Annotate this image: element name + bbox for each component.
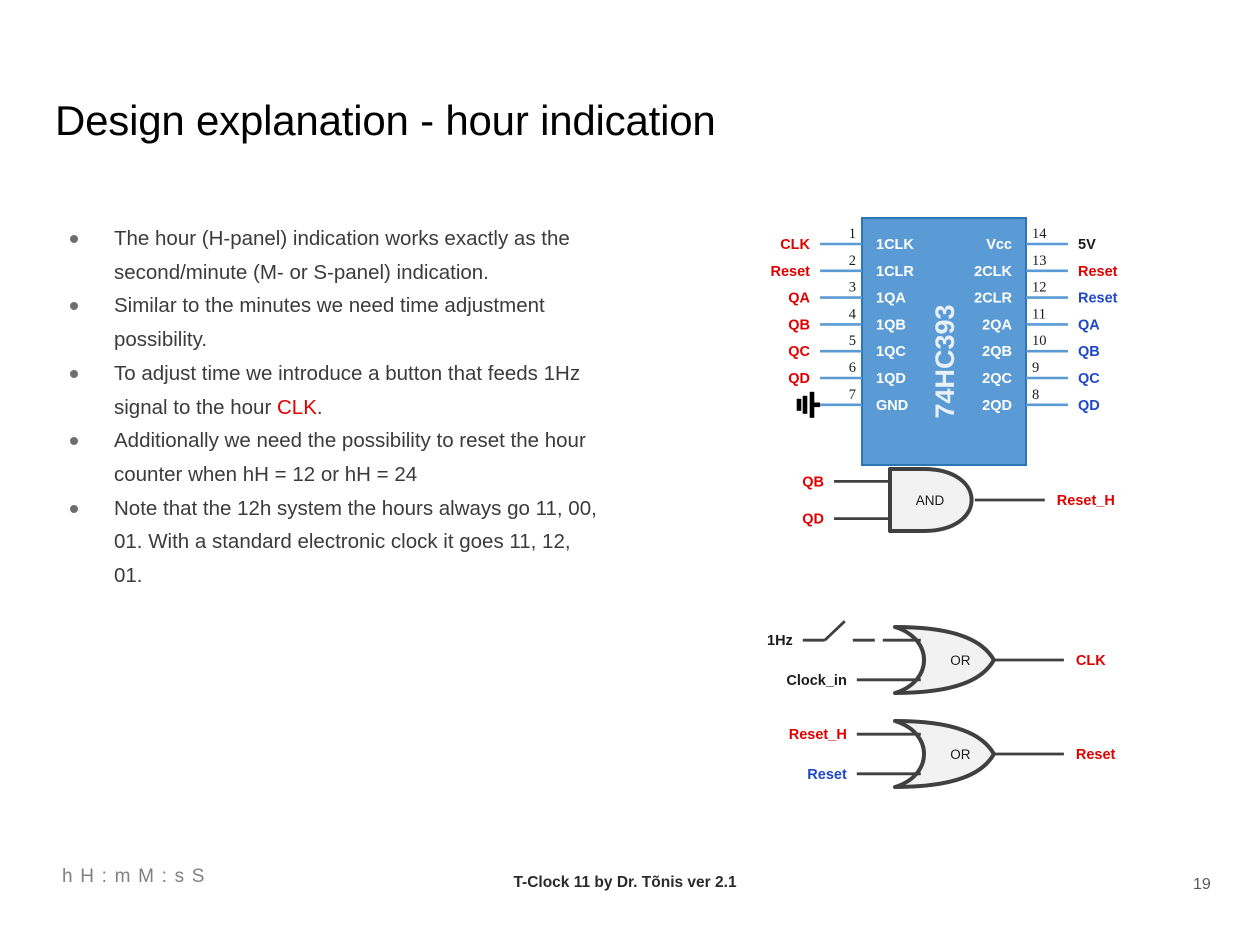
chip-name-label: 74HC393	[930, 304, 960, 418]
signal-label-right-14: 5V	[1078, 237, 1096, 253]
signal-label-left-4: QB	[788, 317, 810, 333]
gate-input-label-qb: QB	[802, 474, 824, 490]
pin-number-2: 2	[849, 253, 856, 269]
bullet-list: The hour (H-panel) indication works exac…	[62, 222, 602, 593]
push-button-switch-icon[interactable]	[825, 621, 845, 640]
pin-number-5: 5	[849, 333, 856, 349]
bullet-dot-icon	[70, 505, 78, 513]
chip-pin-label-left-1QC: 1QC	[876, 344, 906, 360]
list-item: Similar to the minutes we need time adju…	[62, 289, 602, 356]
gate-input-label-1hz: 1Hz	[767, 633, 793, 649]
chip-pin-label-right-2CLK: 2CLK	[974, 264, 1012, 280]
list-item: The hour (H-panel) indication works exac…	[62, 222, 602, 289]
bullet-text-1: Similar to the minutes we need time adju…	[114, 294, 545, 351]
pin-number-4: 4	[849, 306, 857, 322]
text-run: Note that the 12h system the hours alway…	[114, 497, 597, 587]
pin-number-12: 12	[1032, 280, 1047, 296]
signal-label-right-8: QD	[1078, 398, 1100, 414]
chip-pin-label-left-1QB: 1QB	[876, 317, 906, 333]
text-run: Additionally we need the possibility to …	[114, 429, 586, 486]
chip-pin-label-left-GND: GND	[876, 398, 908, 414]
bullet-text-0: The hour (H-panel) indication works exac…	[114, 227, 570, 284]
slide-canvas: Design explanation - hour indication The…	[0, 0, 1250, 938]
signal-label-right-13: Reset	[1078, 264, 1118, 280]
signal-label-left-2: Reset	[771, 264, 811, 280]
chip-pin-label-left-1CLK: 1CLK	[876, 237, 914, 253]
list-item: To adjust time we introduce a button tha…	[62, 357, 602, 424]
page-number: 19	[1193, 876, 1211, 894]
ic-74hc393-symbol: 74HC3931CLK1CLK1CLR2Reset1QA3QA1QB4QB1QC…	[771, 218, 1118, 465]
text-run: .	[317, 396, 323, 419]
bullet-dot-icon	[70, 302, 78, 310]
text-run: The hour (H-panel) indication works exac…	[114, 227, 570, 284]
text-run: Similar to the minutes we need time adju…	[114, 294, 545, 351]
pin-number-6: 6	[849, 360, 856, 376]
pin-number-7: 7	[849, 387, 856, 403]
gate-input-label-reset_h: Reset_H	[789, 727, 847, 743]
chip-pin-label-left-1CLR: 1CLR	[876, 264, 914, 280]
chip-pin-label-right-2QD: 2QD	[982, 398, 1012, 414]
signal-label-left-3: QA	[788, 291, 810, 307]
footer-title: T-Clock 11 by Dr. Tõnis ver 2.1	[0, 874, 1250, 892]
gate-label-or: OR	[950, 653, 971, 668]
chip-pin-label-left-1QD: 1QD	[876, 371, 906, 387]
pin-number-11: 11	[1032, 306, 1046, 322]
signal-label-left-5: QC	[788, 344, 810, 360]
signal-label-right-10: QB	[1078, 344, 1100, 360]
signal-label-right-9: QC	[1078, 371, 1100, 387]
gate-output-label-reset_h: Reset_H	[1057, 493, 1115, 509]
text-run: To adjust time we introduce a button tha…	[114, 362, 580, 419]
signal-label-right-12: Reset	[1078, 291, 1118, 307]
pin-number-1: 1	[849, 226, 856, 242]
signal-name-clk: CLK	[277, 396, 317, 419]
gate-label-or: OR	[950, 747, 971, 762]
chip-pin-label-right-2CLR: 2CLR	[974, 291, 1012, 307]
bullet-dot-icon	[70, 235, 78, 243]
signal-label-right-11: QA	[1078, 317, 1100, 333]
list-item: Additionally we need the possibility to …	[62, 424, 602, 491]
ground-icon	[799, 392, 820, 418]
signal-label-left-6: QD	[788, 371, 810, 387]
chip-pin-label-right-2QA: 2QA	[982, 317, 1012, 333]
gate-output-label-clk: CLK	[1076, 653, 1106, 669]
bullet-text-4: Note that the 12h system the hours alway…	[114, 497, 597, 587]
circuit-schematic: 74HC3931CLK1CLK1CLR2Reset1QA3QA1QB4QB1QC…	[710, 200, 1240, 820]
chip-pin-label-right-2QB: 2QB	[982, 344, 1012, 360]
gate-input-label-reset: Reset	[807, 767, 847, 783]
chip-pin-label-left-1QA: 1QA	[876, 291, 906, 307]
gate-and-0: ANDQBQDReset_H	[802, 469, 1115, 531]
pin-number-3: 3	[849, 280, 856, 296]
pin-number-8: 8	[1032, 387, 1039, 403]
chip-pin-label-right-Vcc: Vcc	[986, 237, 1012, 253]
pin-number-14: 14	[1032, 226, 1047, 242]
page-title: Design explanation - hour indication	[55, 98, 716, 144]
gate-body-or	[895, 721, 994, 787]
bullet-dot-icon	[70, 437, 78, 445]
signal-label-left-1: CLK	[780, 237, 810, 253]
pin-number-10: 10	[1032, 333, 1047, 349]
gate-input-label-qd: QD	[802, 512, 824, 528]
pin-number-13: 13	[1032, 253, 1047, 269]
logic-gates-group: ANDQBQDReset_HOR1HzClock_inCLKORReset_HR…	[767, 469, 1116, 787]
gate-or-1: OR1HzClock_inCLK	[767, 621, 1106, 693]
chip-pin-label-right-2QC: 2QC	[982, 371, 1012, 387]
gate-output-label-reset: Reset	[1076, 747, 1116, 763]
gate-label-and: AND	[916, 493, 945, 508]
bullet-dot-icon	[70, 370, 78, 378]
bullet-text-2: To adjust time we introduce a button tha…	[114, 362, 580, 419]
gate-or-2: ORReset_HResetReset	[789, 721, 1116, 787]
gate-input-label-clock_in: Clock_in	[786, 673, 846, 689]
gate-body-or	[895, 627, 994, 693]
list-item: Note that the 12h system the hours alway…	[62, 492, 602, 593]
bullet-text-3: Additionally we need the possibility to …	[114, 429, 586, 486]
pin-number-9: 9	[1032, 360, 1039, 376]
